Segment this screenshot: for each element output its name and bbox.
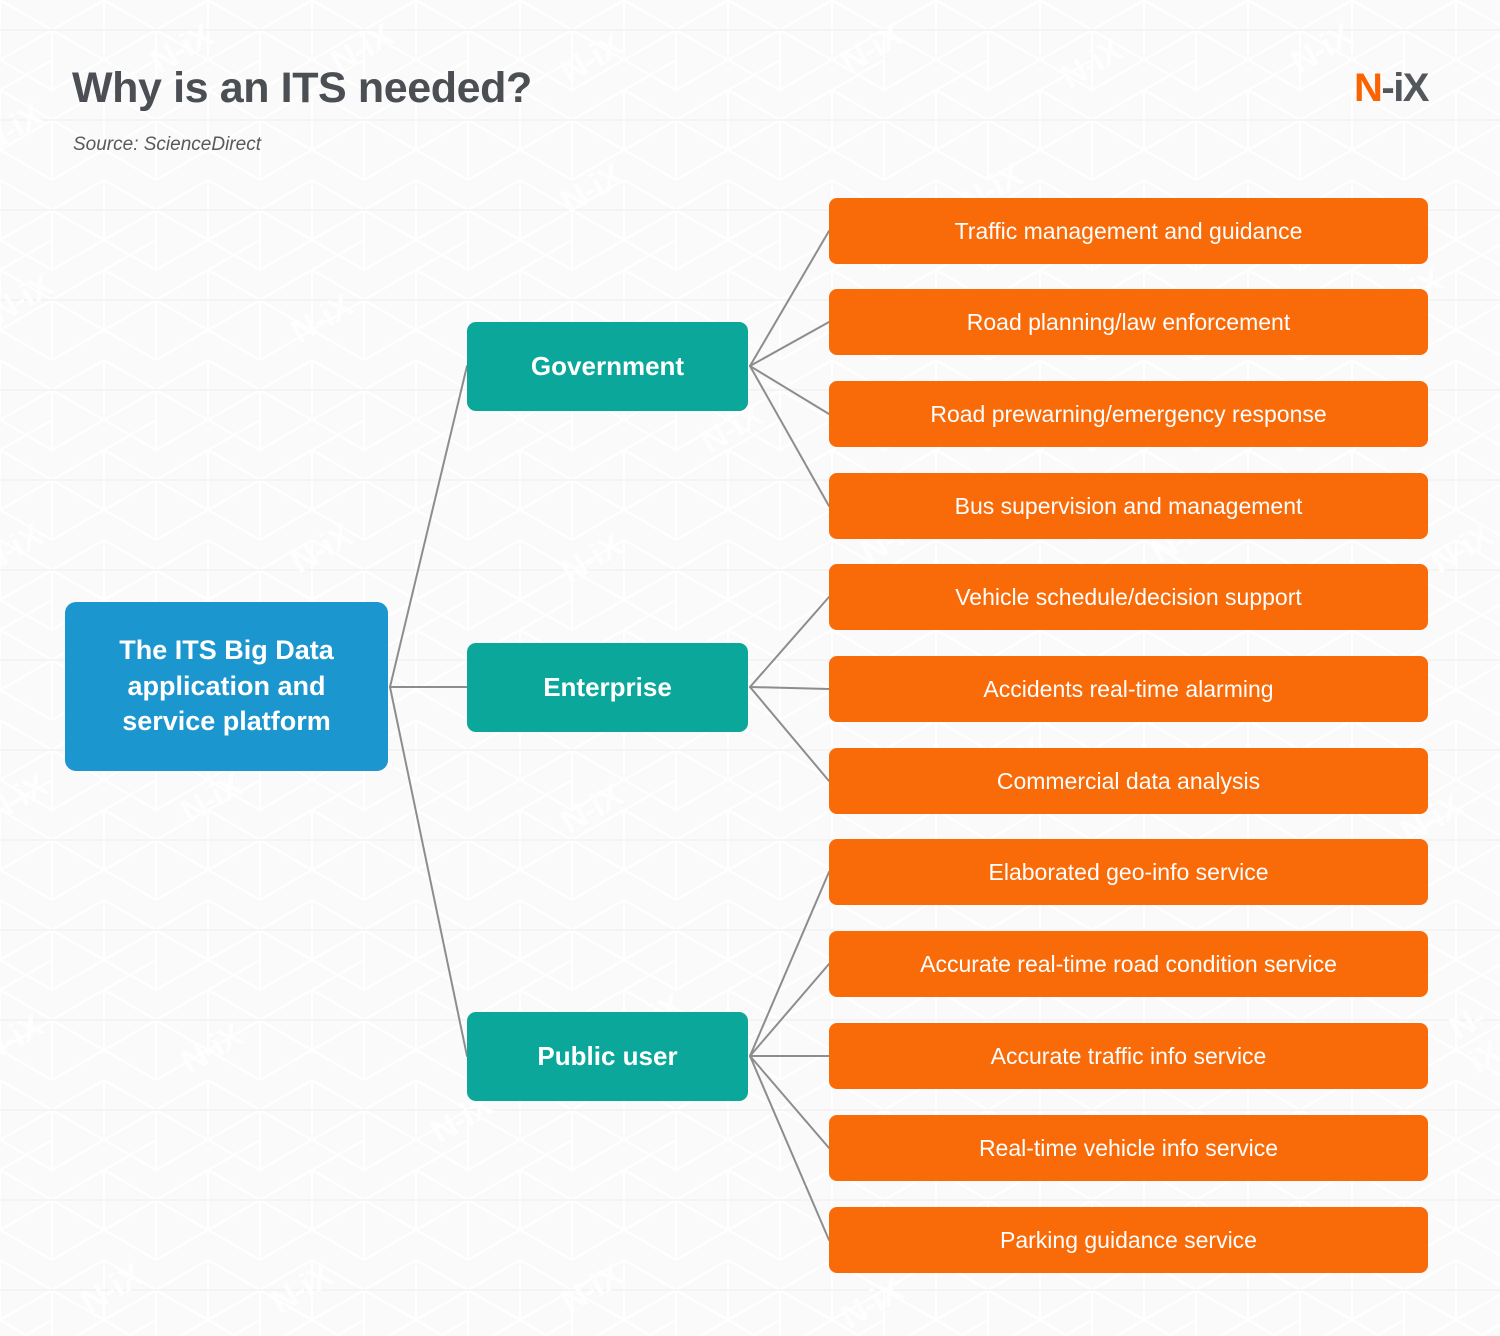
connector-government-leaf-1: [750, 231, 829, 366]
branch-node-enterprise[interactable]: Enterprise: [467, 643, 748, 732]
connector-enterprise-leaf-3: [750, 687, 829, 781]
connector-enterprise-leaf-1: [750, 597, 829, 687]
connector-public-user-leaf-4: [750, 1056, 829, 1148]
watermark-text: N-iX: [0, 517, 49, 583]
watermark-text: N-iX: [1285, 17, 1360, 83]
leaf-node-accidents-real-time-alarming[interactable]: Accidents real-time alarming: [829, 656, 1428, 722]
watermark-text: N-iX: [555, 527, 630, 593]
watermark-text: N-iX: [285, 517, 360, 583]
connector-public-user-leaf-2: [750, 964, 829, 1056]
watermark-text: N-iX: [265, 1257, 340, 1323]
infographic-canvas: N-iX N-iX N-iX N-iX N-iX N-iX N-iX N-iX …: [0, 0, 1500, 1336]
leaf-node-vehicle-schedule-decision-support[interactable]: Vehicle schedule/decision support: [829, 564, 1428, 630]
connector-enterprise-leaf-2: [750, 687, 829, 689]
leaf-node-parking-guidance-service[interactable]: Parking guidance service: [829, 1207, 1428, 1273]
watermark-text: N-iX: [555, 777, 630, 843]
watermark-text: N-iX: [175, 1017, 250, 1083]
connector-public-user-leaf-1: [750, 872, 829, 1056]
leaf-node-traffic-management-and-guidance[interactable]: Traffic management and guidance: [829, 198, 1428, 264]
watermark-text: N-iX: [555, 27, 630, 93]
connector-root-to-government: [390, 366, 467, 687]
logo-n-mark: N: [1354, 66, 1381, 110]
connector-root-to-public-user: [390, 687, 467, 1056]
nix-logo: N-iX: [1354, 66, 1428, 111]
leaf-node-commercial-data-analysis[interactable]: Commercial data analysis: [829, 748, 1428, 814]
watermark-text: N-iX: [555, 157, 630, 223]
connector-public-user-leaf-5: [750, 1056, 829, 1240]
leaf-node-road-planning-law-enforcement[interactable]: Road planning/law enforcement: [829, 289, 1428, 355]
watermark-text: N-iX: [75, 1257, 150, 1323]
watermark-text: N-iX: [285, 287, 360, 353]
watermark-text: N-iX: [0, 97, 49, 163]
watermark-text: N-iX: [0, 1007, 49, 1073]
leaf-node-accurate-real-time-road-condition-service[interactable]: Accurate real-time road condition servic…: [829, 931, 1428, 997]
connector-government-leaf-4: [750, 366, 829, 506]
connector-government-leaf-2: [750, 322, 829, 366]
leaf-node-road-prewarning-emergency-response[interactable]: Road prewarning/emergency response: [829, 381, 1428, 447]
watermark-text: N-iX: [835, 1272, 910, 1336]
watermark-text: N-iX: [1055, 32, 1130, 98]
watermark-text: N-iX: [0, 767, 54, 833]
leaf-node-accurate-traffic-info-service[interactable]: Accurate traffic info service: [829, 1023, 1428, 1089]
root-node-its-big-data-platform[interactable]: The ITS Big Data application and service…: [65, 602, 388, 771]
connector-government-leaf-3: [750, 366, 829, 414]
source-attribution: Source: ScienceDirect: [73, 134, 261, 156]
leaf-node-bus-supervision-and-management[interactable]: Bus supervision and management: [829, 473, 1428, 539]
logo-ix-mark: -iX: [1381, 66, 1428, 110]
watermark-text: N-iX: [555, 1257, 630, 1323]
watermark-text: N-iX: [835, 17, 910, 83]
watermark-text: N-iX: [175, 767, 250, 833]
branch-node-public-user[interactable]: Public user: [467, 1012, 748, 1101]
watermark-text: N-iX: [1443, 995, 1500, 1083]
page-title: Why is an ITS needed?: [72, 64, 532, 113]
branch-node-government[interactable]: Government: [467, 322, 748, 411]
watermark-text: N-iX: [0, 267, 59, 333]
watermark-text: N-iX: [1425, 517, 1500, 583]
leaf-node-real-time-vehicle-info-service[interactable]: Real-time vehicle info service: [829, 1115, 1428, 1181]
leaf-node-elaborated-geo-info-service[interactable]: Elaborated geo-info service: [829, 839, 1428, 905]
